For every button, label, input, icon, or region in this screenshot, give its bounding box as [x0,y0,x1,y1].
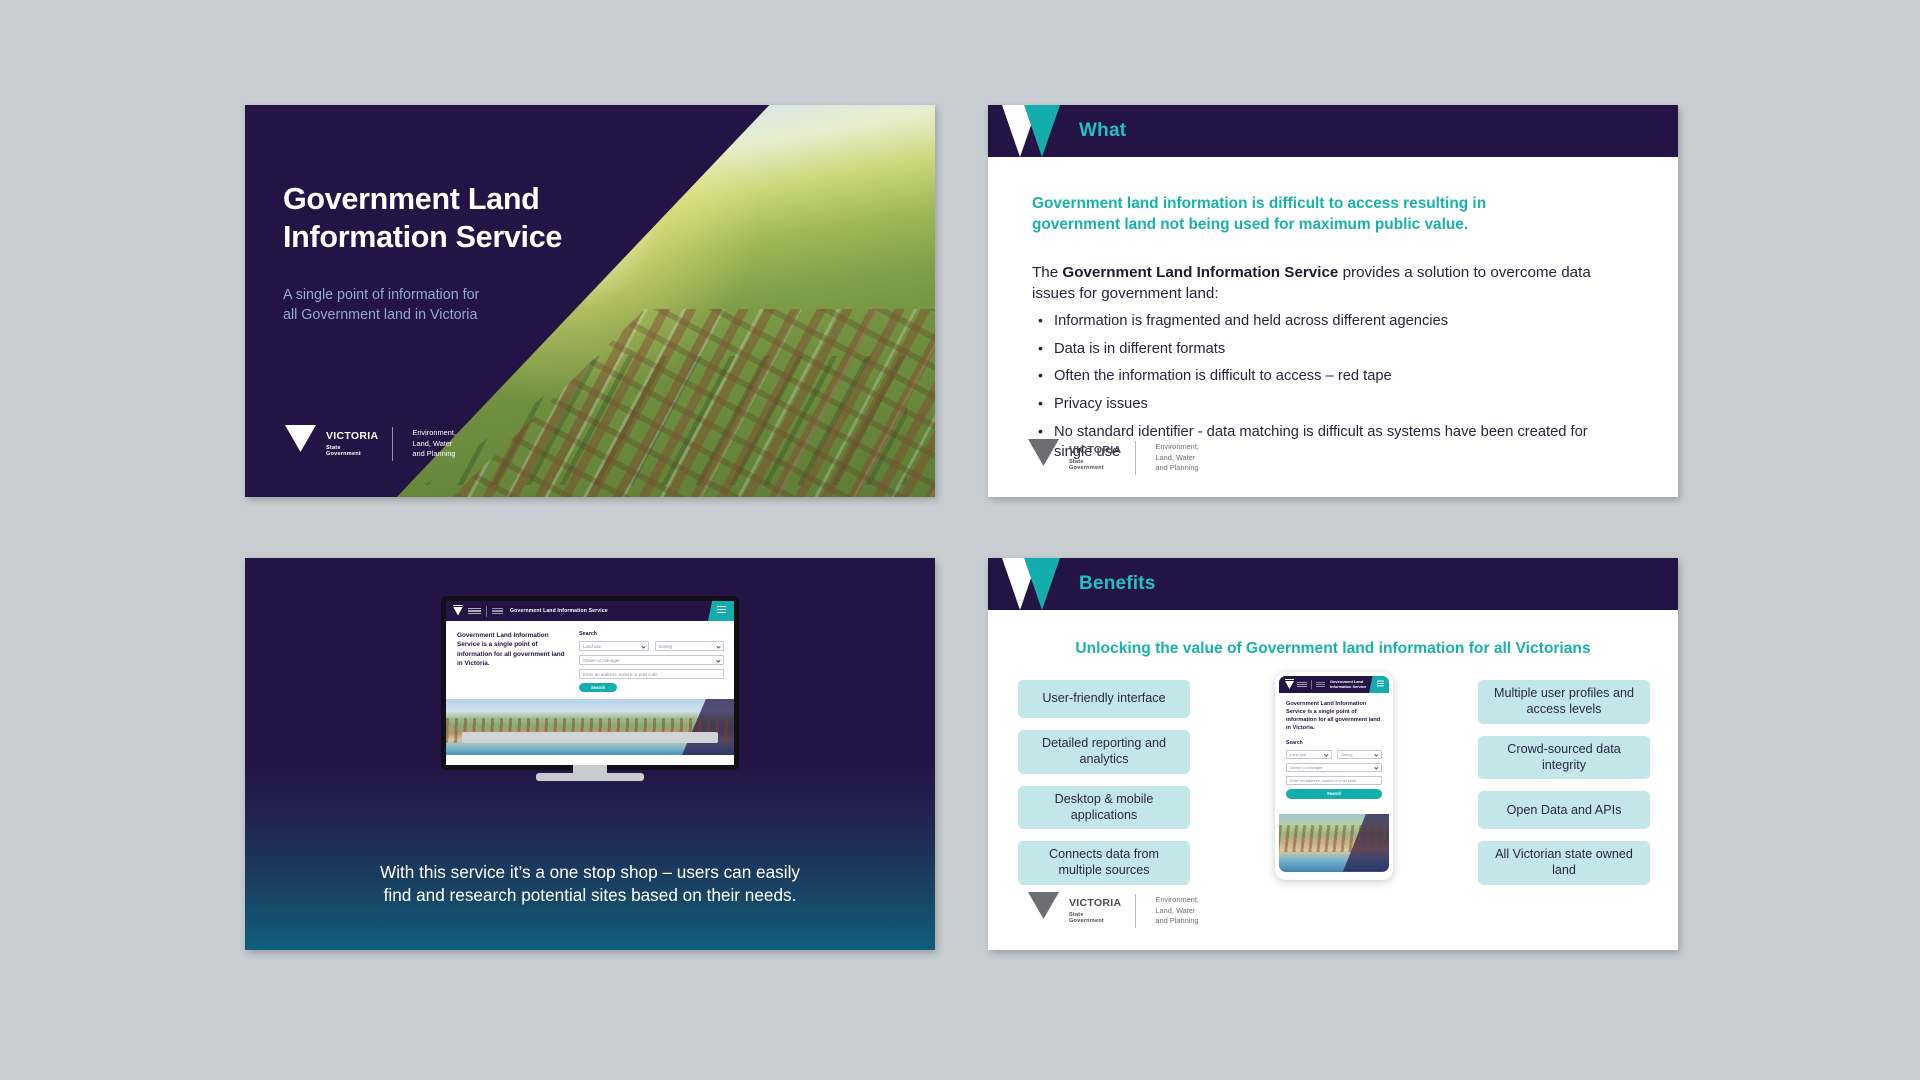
what-paragraph-prefix: The [1032,264,1062,281]
chevron-down-icon [1375,753,1379,757]
search-button[interactable]: Search [579,683,617,692]
website-brand-title: Government Land Information Service [510,608,608,614]
address-placeholder: Enter an address, suburb or post code [583,672,658,677]
logo-line-government: Government [1069,918,1121,924]
department-line-2: Land, Water [1155,453,1199,464]
search-form: Search Land use Zoning [579,631,724,699]
photo-angled-overlay [682,699,734,755]
zoning-select[interactable]: Zoning [655,641,725,651]
search-row-1: Land use Zoning [1286,750,1382,763]
benefit-box[interactable]: Connects data from multiple sources [1018,841,1190,885]
logo-wordmark: VICTORIA [1069,445,1121,456]
department-text-placeholder [492,608,503,614]
victoria-v-icon [988,105,1064,157]
address-input[interactable]: Enter an address, suburb or post code [1286,776,1382,785]
zoning-select[interactable]: Zoning [1337,750,1383,759]
victoria-government-logo: VICTORIA State Government Environment, L… [285,425,456,463]
page-subtitle: A single point of information for all Go… [283,285,673,326]
department-name: Environment, Land, Water and Planning [412,428,456,461]
owner-value: Owner or manager [1290,765,1322,770]
phone-brand-title: Government Land Information Service [1330,680,1366,690]
page-title-line-2: Information Service [283,219,673,257]
page-title-line-1: Government Land [283,181,673,219]
department-line-3: and Planning [412,449,456,460]
phone-mockup: Government Land Information Service Gove… [1275,672,1393,880]
hamburger-menu-icon[interactable] [1369,676,1389,693]
department-line-1: Environment, [412,428,456,439]
victoria-government-logo: VICTORIA State Government Environment, L… [1028,892,1199,930]
logo-divider [1135,441,1136,475]
slide-header-bar: Benefits [988,558,1678,610]
list-item: Often the information is difficult to ac… [1032,367,1612,387]
website-header: Government Land Information Service [446,601,734,621]
monitor-caption-line-2: find and research potential sites based … [299,884,881,908]
victoria-v-icon [988,558,1064,610]
page-subtitle-line-2: all Government land in Victoria [283,305,673,325]
benefit-box[interactable]: User-friendly interface [1018,680,1190,718]
slide-body: Unlocking the value of Government land i… [988,610,1678,950]
slide-header-title: Benefits [1079,573,1156,595]
what-content: Government land information is difficult… [988,157,1678,462]
owner-value: Owner or manager [583,658,620,663]
department-name: Environment, Land, Water and Planning [1155,895,1199,928]
benefits-columns: User-friendly interface Detailed reporti… [988,658,1678,885]
benefits-left-column: User-friendly interface Detailed reporti… [1018,680,1190,885]
benefit-box[interactable]: Multiple user profiles and access levels [1478,680,1650,724]
land-use-select[interactable]: Land use [1286,750,1332,759]
phone-hero-photo [1279,814,1389,872]
what-paragraph-bold: Government Land Information Service [1062,264,1338,281]
list-item: Information is fragmented and held acros… [1032,312,1612,332]
list-item: Data is in different formats [1032,340,1612,360]
logo-divider [486,606,487,617]
victoria-v-icon [1028,439,1059,477]
logo-text-placeholder [1297,682,1307,687]
department-line-3: and Planning [1155,916,1199,927]
phone-app-body: Government Land Information Service is a… [1279,693,1389,807]
search-label: Search [579,631,724,637]
logo-line-government: Government [326,451,378,457]
victoria-v-icon [1028,892,1059,930]
logo-text-placeholder [468,608,481,614]
search-row-1: Land use Zoning [579,641,724,655]
chevron-down-icon [641,645,645,649]
website-hero-photo [446,699,734,755]
list-item: Privacy issues [1032,395,1612,415]
department-line-2: Land, Water [412,439,456,450]
slide-body: Government land information is difficult… [988,157,1678,497]
victoria-wordmark: VICTORIA State Government [1069,445,1121,470]
zoning-value: Zoning [659,644,672,649]
slide-benefits[interactable]: Benefits Unlocking the value of Governme… [988,558,1678,950]
title-text-block: Government Land Information Service A si… [283,181,673,325]
benefit-box[interactable]: Open Data and APIs [1478,791,1650,829]
what-lead-line-2: government land not being used for maxim… [1032,214,1552,235]
page-subtitle-line-1: A single point of information for [283,285,673,305]
hamburger-menu-icon[interactable] [708,601,734,621]
slide-header-bar: What [988,105,1678,157]
owner-select[interactable]: Owner or manager [579,655,724,665]
photo-angled-overlay [1343,814,1389,872]
victoria-v-icon [452,605,465,618]
land-use-value: Land use [583,644,601,649]
benefits-lead: Unlocking the value of Government land i… [988,610,1678,658]
slide-monitor-mockup[interactable]: Government Land Information Service Gove… [245,558,935,950]
address-placeholder: Enter an address, suburb or post code [1290,778,1356,783]
phone-headline: Government Land Information Service is a… [1286,700,1382,733]
benefit-box[interactable]: Desktop & mobile applications [1018,786,1190,830]
phone-app-header: Government Land Information Service [1279,676,1389,693]
desktop-monitor-mockup: Government Land Information Service Gove… [441,596,739,781]
slide-what[interactable]: What Government land information is diff… [988,105,1678,497]
website-hero: Government Land Information Service is a… [446,621,734,699]
victoria-v-icon [285,425,316,463]
benefits-right-column: Multiple user profiles and access levels… [1478,680,1650,885]
chevron-down-icon [716,659,720,663]
monitor-caption-line-1: With this service it’s a one stop shop –… [299,861,881,885]
chevron-down-icon [716,645,720,649]
phone-brand-line-2: Information Service [1330,685,1366,690]
monitor-caption: With this service it’s a one stop shop –… [245,861,935,908]
zoning-value: Zoning [1341,752,1353,757]
slide-header-title: What [1079,120,1126,142]
department-line-1: Environment, [1155,442,1199,453]
benefit-box[interactable]: Crowd-sourced data integrity [1478,736,1650,780]
logo-wordmark: VICTORIA [1069,898,1121,909]
logo-divider [392,427,393,461]
monitor-base [536,773,644,781]
search-button[interactable]: Search [1286,789,1382,799]
phone-screen: Government Land Information Service Gove… [1279,676,1389,872]
logo-line-government: Government [1069,465,1121,471]
benefit-box[interactable]: Detailed reporting and analytics [1018,730,1190,774]
slide-deck: Government Land Information Service A si… [0,0,1920,1080]
department-line-1: Environment, [1155,895,1199,906]
benefit-box[interactable]: All Victorian state owned land [1478,841,1650,885]
chevron-down-icon [1375,766,1379,770]
logo-divider [1311,680,1312,689]
owner-select[interactable]: Owner or manager [1286,763,1382,772]
what-lead-line-1: Government land information is difficult… [1032,193,1552,214]
victoria-v-icon [1284,679,1295,690]
chevron-down-icon [1324,753,1328,757]
department-line-2: Land, Water [1155,906,1199,917]
land-use-select[interactable]: Land use [579,641,649,651]
page-title: Government Land Information Service [283,181,673,257]
victoria-government-logo: VICTORIA State Government Environment, L… [1028,439,1199,477]
department-name: Environment, Land, Water and Planning [1155,442,1199,475]
department-line-3: and Planning [1155,463,1199,474]
logo-wordmark: VICTORIA [326,431,378,442]
what-lead-statement: Government land information is difficult… [1032,193,1552,236]
logo-divider [1135,894,1136,928]
monitor-bezel: Government Land Information Service Gove… [441,596,739,770]
land-use-value: Land use [1290,752,1306,757]
slide-title-page[interactable]: Government Land Information Service A si… [245,105,935,497]
what-paragraph: The Government Land Information Service … [1032,262,1612,305]
department-text-placeholder [1316,682,1325,687]
search-label: Search [1286,740,1382,746]
monitor-chin [462,732,718,743]
victoria-wordmark: VICTORIA State Government [326,431,378,456]
address-input[interactable]: Enter an address, suburb or post code [579,669,724,679]
website-headline: Government Land Information Service is a… [457,631,569,699]
victoria-wordmark: VICTORIA State Government [1069,898,1121,923]
